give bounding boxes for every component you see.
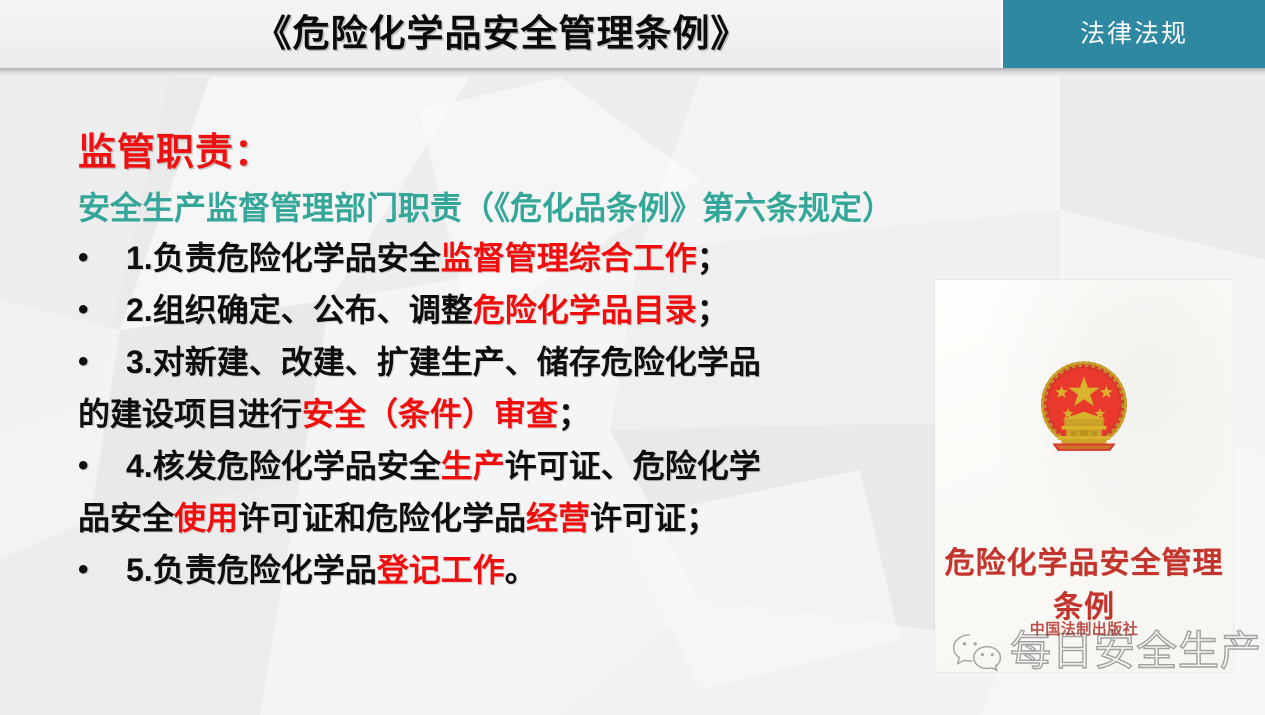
list-item: 品安全使用许可证和危险化学品经营许可证； — [78, 492, 878, 544]
body-text: 1.负责危险化学品安全 — [126, 240, 441, 276]
header-divider-shadow — [0, 68, 1265, 77]
list-item: •4.核发危险化学品安全生产许可证、危险化学 — [78, 440, 878, 492]
slide-header: 《危险化学品安全管理条例》 法律法规 — [0, 0, 1265, 68]
body-text: 的建设项目进行 — [78, 396, 302, 432]
list-item: •5.负责危险化学品登记工作。 — [78, 544, 878, 596]
highlighted-text: 安全（条件）审查 — [302, 396, 558, 432]
body-text: 。 — [505, 552, 537, 588]
bullet-dot-icon: • — [78, 284, 126, 336]
highlighted-text: 经营 — [526, 500, 590, 536]
tab-legal-regulations[interactable]: 法律法规 — [1003, 0, 1265, 68]
body-text: ； — [558, 396, 590, 432]
body-text: 品安全 — [78, 500, 174, 536]
highlighted-text: 使用 — [174, 500, 238, 536]
highlighted-text: 登记工作 — [377, 552, 505, 588]
bullet-dot-icon: • — [78, 232, 126, 284]
list-item: •1.负责危险化学品安全监督管理综合工作； — [78, 232, 878, 284]
bullet-dot-icon: • — [78, 544, 126, 596]
slide-root: 《危险化学品安全管理条例》 法律法规 监管职责： 安全生产监督管理部门职责（《危… — [0, 0, 1265, 715]
body-text: 3.对新建、改建、扩建生产、储存危险化学品 — [126, 344, 761, 380]
body-text: 5.负责危险化学品 — [126, 552, 377, 588]
body-text: ； — [697, 240, 729, 276]
list-item: •3.对新建、改建、扩建生产、储存危险化学品 — [78, 336, 878, 388]
body-text: 许可证、危险化学 — [505, 448, 761, 484]
body-text: ； — [697, 292, 729, 328]
body-text: 许可证和危险化学品 — [238, 500, 526, 536]
body-text: 许可证； — [590, 500, 718, 536]
page-title: 《危险化学品安全管理条例》 — [0, 0, 1003, 68]
section-heading: 监管职责： — [78, 121, 273, 176]
section-subheading: 安全生产监督管理部门职责（《危化品条例》第六条规定） — [78, 183, 894, 229]
slide-body: 监管职责： 安全生产监督管理部门职责（《危化品条例》第六条规定） •1.负责危险… — [0, 77, 1265, 715]
body-text: 2.组织确定、公布、调整 — [126, 292, 473, 328]
highlighted-text: 监督管理综合工作 — [441, 240, 697, 276]
bullet-dot-icon: • — [78, 440, 126, 492]
list-item: 的建设项目进行安全（条件）审查； — [78, 388, 878, 440]
bullet-dot-icon: • — [78, 336, 126, 388]
body-text: 4.核发危险化学品安全 — [126, 448, 441, 484]
list-item: •2.组织确定、公布、调整危险化学品目录； — [78, 284, 878, 336]
highlighted-text: 危险化学品目录 — [473, 292, 697, 328]
responsibility-list: •1.负责危险化学品安全监督管理综合工作；•2.组织确定、公布、调整危险化学品目… — [78, 232, 878, 596]
highlighted-text: 生产 — [441, 448, 505, 484]
